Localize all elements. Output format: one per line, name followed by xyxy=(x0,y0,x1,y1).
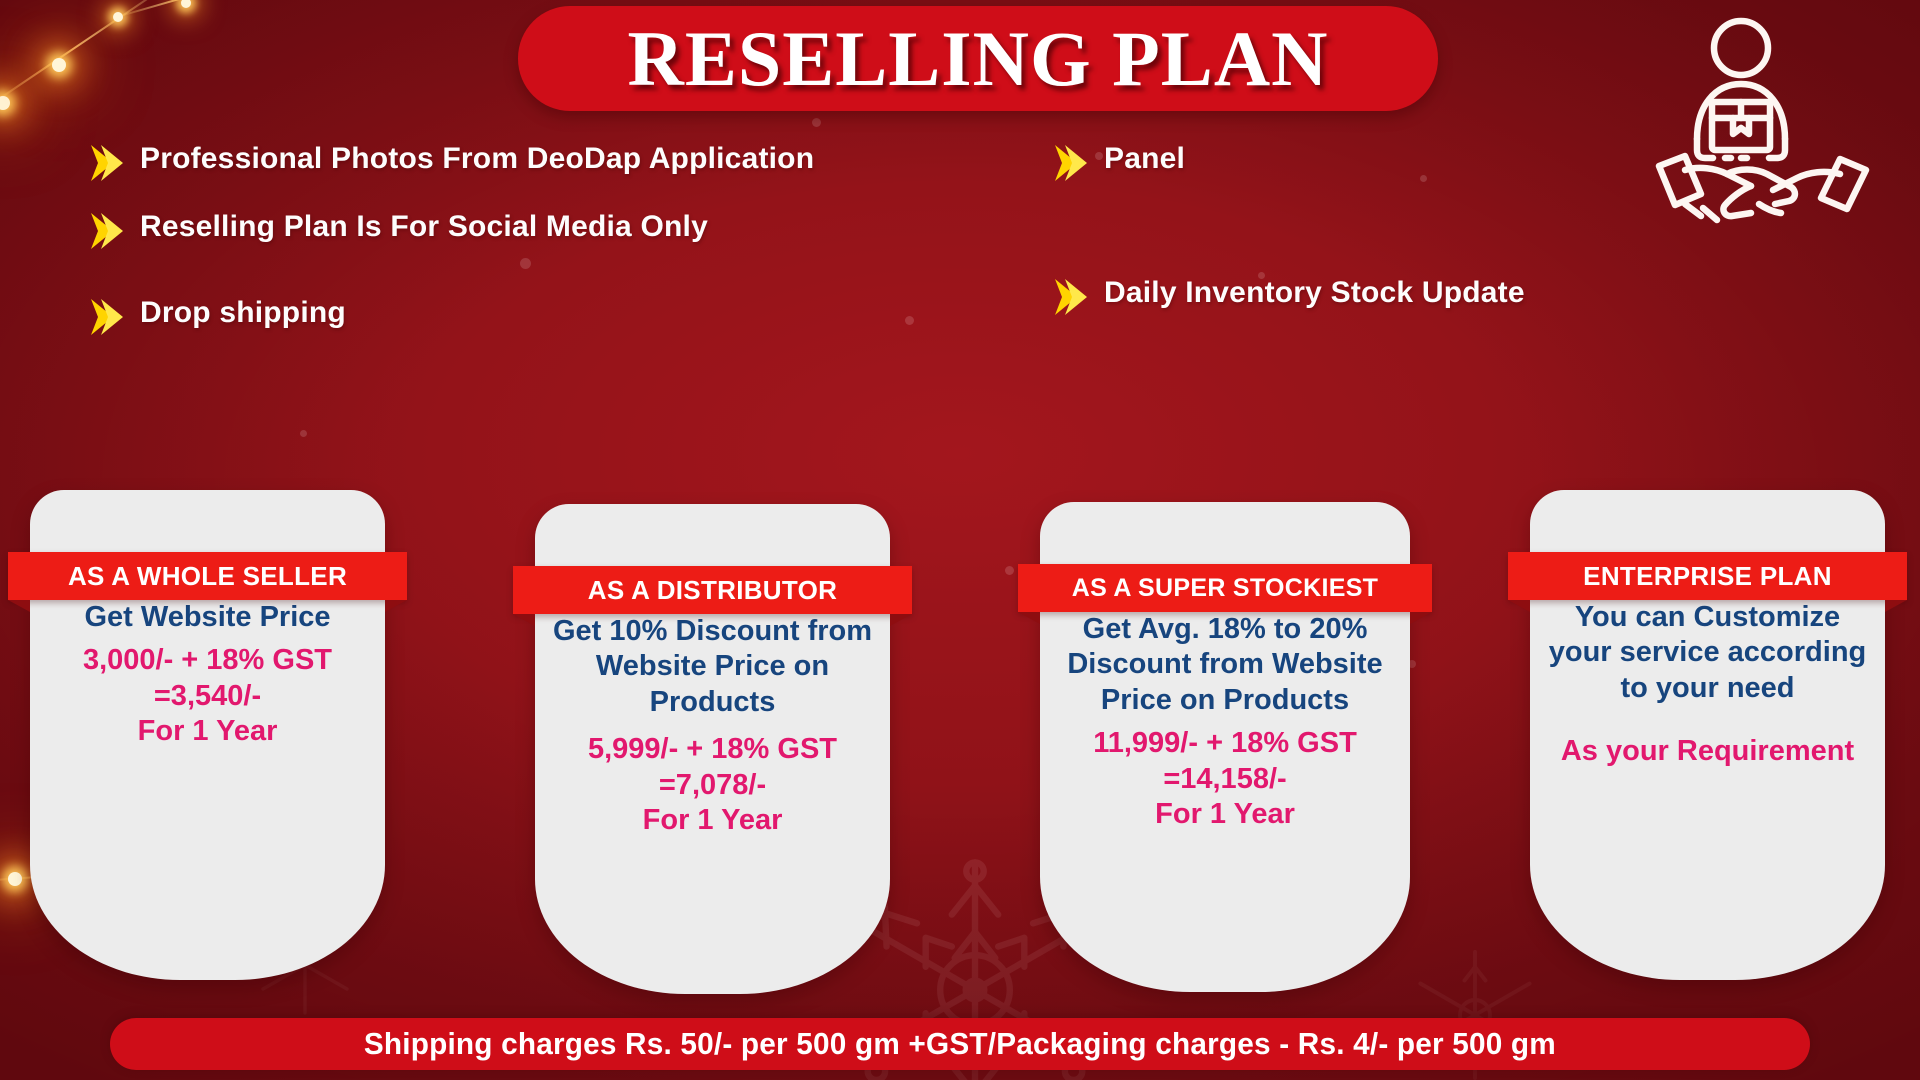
footer-charges-text: Shipping charges Rs. 50/- per 500 gm +GS… xyxy=(364,1026,1556,1062)
card-ribbon-label: AS A SUPER STOCKIEST xyxy=(1072,574,1379,603)
feature-item: Panel xyxy=(1052,140,1672,186)
card-body: Get Website Price 3,000/- + 18% GST =3,5… xyxy=(30,600,385,750)
chevron-right-icon xyxy=(1052,276,1090,320)
plan-card-enterprise[interactable]: ENTERPRISE PLAN You can Customize your s… xyxy=(1530,490,1885,980)
feature-label: Panel xyxy=(1104,140,1185,178)
card-price: As your Requirement xyxy=(1546,734,1869,769)
card-ribbon: AS A SUPER STOCKIEST xyxy=(1018,564,1432,612)
card-price: 3,000/- + 18% GST =3,540/- For 1 Year xyxy=(46,643,369,749)
chevron-right-icon xyxy=(88,142,126,186)
card-shape: AS A DISTRIBUTOR Get 10% Discount from W… xyxy=(535,504,890,994)
card-body: Get Avg. 18% to 20% Discount from Websit… xyxy=(1040,612,1410,832)
plan-card-whole-seller[interactable]: AS A WHOLE SELLER Get Website Price 3,00… xyxy=(30,490,385,980)
card-ribbon: AS A DISTRIBUTOR xyxy=(513,566,912,614)
chevron-right-icon xyxy=(88,210,126,254)
plan-cards: AS A WHOLE SELLER Get Website Price 3,00… xyxy=(0,490,1920,990)
card-shape: AS A WHOLE SELLER Get Website Price 3,00… xyxy=(30,490,385,980)
card-ribbon-label: AS A WHOLE SELLER xyxy=(68,561,347,592)
card-ribbon: AS A WHOLE SELLER xyxy=(8,552,407,600)
feature-item: Professional Photos From DeoDap Applicat… xyxy=(88,140,848,186)
plan-card-distributor[interactable]: AS A DISTRIBUTOR Get 10% Discount from W… xyxy=(535,504,890,994)
card-heading: You can Customize your service according… xyxy=(1546,600,1869,706)
page-title: RESELLING PLAN xyxy=(628,20,1329,98)
card-heading: Get 10% Discount from Website Price on P… xyxy=(551,614,874,720)
plan-card-super-stockiest[interactable]: AS A SUPER STOCKIEST Get Avg. 18% to 20%… xyxy=(1040,502,1410,992)
feature-label: Drop shipping xyxy=(140,294,346,332)
feature-label: Professional Photos From DeoDap Applicat… xyxy=(140,140,814,178)
feature-label: Daily Inventory Stock Update xyxy=(1104,274,1525,312)
footer-charges-bar: Shipping charges Rs. 50/- per 500 gm +GS… xyxy=(110,1018,1810,1070)
feature-item: Reselling Plan Is For Social Media Only xyxy=(88,208,848,254)
card-shape: AS A SUPER STOCKIEST Get Avg. 18% to 20%… xyxy=(1040,502,1410,992)
card-body: You can Customize your service according… xyxy=(1530,600,1885,770)
features-left-column: Professional Photos From DeoDap Applicat… xyxy=(88,140,848,348)
features-right-column: Panel Daily Inventory Stock Update xyxy=(1052,140,1672,328)
card-ribbon: ENTERPRISE PLAN xyxy=(1508,552,1907,600)
handshake-delivery-icon xyxy=(1655,8,1870,233)
feature-item: Drop shipping xyxy=(88,294,848,340)
card-ribbon-label: AS A DISTRIBUTOR xyxy=(588,575,837,606)
card-price: 11,999/- + 18% GST =14,158/- For 1 Year xyxy=(1056,726,1394,832)
card-shape: ENTERPRISE PLAN You can Customize your s… xyxy=(1530,490,1885,980)
card-heading: Get Avg. 18% to 20% Discount from Websit… xyxy=(1056,612,1394,718)
feature-item: Daily Inventory Stock Update xyxy=(1052,274,1672,320)
card-heading: Get Website Price xyxy=(46,600,369,635)
chevron-right-icon xyxy=(1052,142,1090,186)
feature-label: Reselling Plan Is For Social Media Only xyxy=(140,208,708,246)
card-ribbon-label: ENTERPRISE PLAN xyxy=(1583,561,1832,592)
page-title-banner: RESELLING PLAN xyxy=(518,6,1438,111)
card-body: Get 10% Discount from Website Price on P… xyxy=(535,614,890,838)
card-price: 5,999/- + 18% GST =7,078/- For 1 Year xyxy=(551,732,874,838)
chevron-right-icon xyxy=(88,296,126,340)
